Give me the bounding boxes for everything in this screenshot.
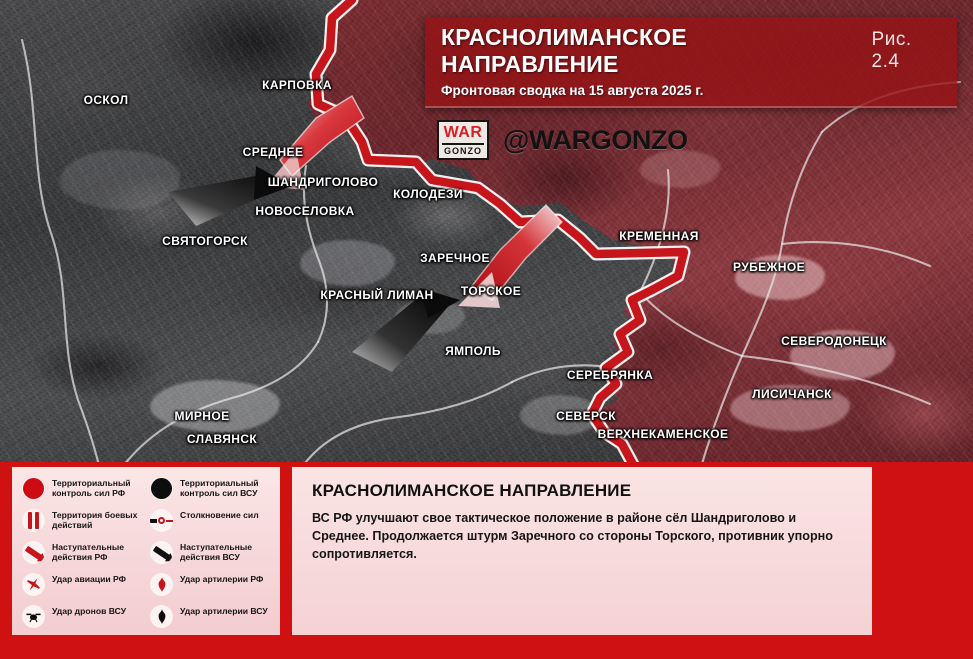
urban-blob-grey-4 — [60, 150, 180, 210]
aviation-strike-icon — [22, 573, 45, 596]
black-filled-circle — [150, 477, 173, 500]
legend-label: Удар авиации РФ — [52, 573, 126, 584]
red-filled-circle — [22, 477, 45, 500]
map-label-1: КАРПОВКА — [262, 78, 332, 92]
legend-item-aviation-strike-icon: Удар авиации РФ — [22, 573, 144, 596]
map-label-3: ШАНДРИГОЛОВО — [268, 175, 379, 189]
legend-item-drone-strike-icon: Удар дронов ВСУ — [22, 605, 144, 628]
legend-column-right: Территориальный контроль сил ВСУСтолкнов… — [150, 477, 272, 627]
map-label-8: ЗАРЕЧНОЕ — [420, 251, 490, 265]
legend-label: Столкновение сил — [180, 509, 259, 520]
infographic-root: ОСКОЛКАРПОВКАСРЕДНЕЕШАНДРИГОЛОВОКОЛОДЕЗИ… — [0, 0, 973, 659]
legend-column-left: Территориальный контроль сил РФТерритори… — [22, 477, 144, 627]
map-label-19: СЛАВЯНСК — [187, 432, 257, 446]
legend-label: Территория боевых действий — [52, 509, 144, 530]
map-label-6: СВЯТОГОРСК — [162, 234, 248, 248]
social-handle[interactable]: @WARGONZO — [503, 125, 688, 156]
legend-label: Наступательные действия РФ — [52, 541, 144, 562]
urban-blob-grey-1 — [150, 380, 280, 432]
red-hatch-bars — [22, 509, 45, 532]
brand-row: WAR GONZO @WARGONZO — [425, 120, 957, 160]
subtitle: Фронтовая сводка на 15 августа 2025 г. — [441, 83, 943, 98]
map-label-15: ЛИСИЧАНСК — [752, 387, 832, 401]
map-label-10: ТОРСКОЕ — [461, 284, 521, 298]
legend-item-black-attack-arrow: Наступательные действия ВСУ — [150, 541, 272, 564]
map-label-12: СЕВЕРОДОНЕЦК — [781, 334, 887, 348]
legend-item-artillery-strike-red: Удар артилерии РФ — [150, 573, 272, 596]
urban-blob-grey-2 — [300, 240, 395, 286]
header: КРАСНОЛИМАНСКОЕ НАПРАВЛЕНИЕ Рис. 2.4 Фро… — [425, 17, 957, 160]
logo-divider — [442, 143, 484, 145]
legend-item-red-filled-circle: Территориальный контроль сил РФ — [22, 477, 144, 500]
map-label-4: КОЛОДЕЗИ — [393, 187, 463, 201]
legend-label: Территориальный контроль сил РФ — [52, 477, 144, 498]
legend-label: Удар дронов ВСУ — [52, 605, 126, 616]
legend-label: Удар артилерии РФ — [180, 573, 263, 584]
logo-war-text: WAR — [444, 125, 483, 141]
map-label-11: КРАСНЫЙ ЛИМАН — [320, 288, 433, 302]
figure-number: Рис. 2.4 — [858, 29, 943, 73]
map-label-0: ОСКОЛ — [84, 93, 129, 107]
urban-blob-grey-5 — [395, 300, 465, 334]
artillery-strike-red — [150, 573, 173, 596]
map-label-7: КРЕМЕННАЯ — [619, 229, 699, 243]
map-label-14: СЕРЕБРЯНКА — [567, 368, 653, 382]
legend-item-clash-icon: Столкновение сил — [150, 509, 272, 532]
wargonzo-logo[interactable]: WAR GONZO — [437, 120, 489, 160]
legend-item-black-filled-circle: Территориальный контроль сил ВСУ — [150, 477, 272, 500]
legend-item-red-attack-arrow: Наступательные действия РФ — [22, 541, 144, 564]
logo-gonzo-text: GONZO — [444, 147, 482, 156]
clash-icon — [150, 509, 173, 532]
map-label-5: НОВОСЕЛОВКА — [255, 204, 354, 218]
summary-title: КРАСНОЛИМАНСКОЕ НАПРАВЛЕНИЕ — [312, 481, 854, 501]
legend-item-artillery-strike-black: Удар артилерии ВСУ — [150, 605, 272, 628]
black-attack-arrow — [150, 541, 173, 564]
map-label-18: ВЕРХНЕКАМЕНСКОЕ — [598, 427, 729, 441]
map-label-17: СЕВЕРСК — [556, 409, 616, 423]
map-label-16: МИРНОЕ — [174, 409, 229, 423]
red-attack-arrow — [22, 541, 45, 564]
legend-label: Удар артилерии ВСУ — [180, 605, 268, 616]
map-label-9: РУБЕЖНОЕ — [733, 260, 805, 274]
bottom-bar: Территориальный контроль сил РФТерритори… — [0, 462, 973, 659]
artillery-strike-black — [150, 605, 173, 628]
drone-strike-icon — [22, 605, 45, 628]
title-band: КРАСНОЛИМАНСКОЕ НАПРАВЛЕНИЕ Рис. 2.4 Фро… — [425, 17, 957, 108]
page-title: КРАСНОЛИМАНСКОЕ НАПРАВЛЕНИЕ — [441, 24, 858, 78]
legend-label: Территориальный контроль сил ВСУ — [180, 477, 272, 498]
legend-panel: Территориальный контроль сил РФТерритори… — [12, 467, 280, 635]
legend-item-red-hatch-bars: Территория боевых действий — [22, 509, 144, 532]
map-label-2: СРЕДНЕЕ — [243, 145, 304, 159]
summary-panel: КРАСНОЛИМАНСКОЕ НАПРАВЛЕНИЕ ВС РФ улучша… — [292, 467, 872, 635]
summary-body: ВС РФ улучшают свое тактическое положени… — [312, 510, 852, 564]
map-label-13: ЯМПОЛЬ — [445, 344, 501, 358]
legend-label: Наступательные действия ВСУ — [180, 541, 272, 562]
